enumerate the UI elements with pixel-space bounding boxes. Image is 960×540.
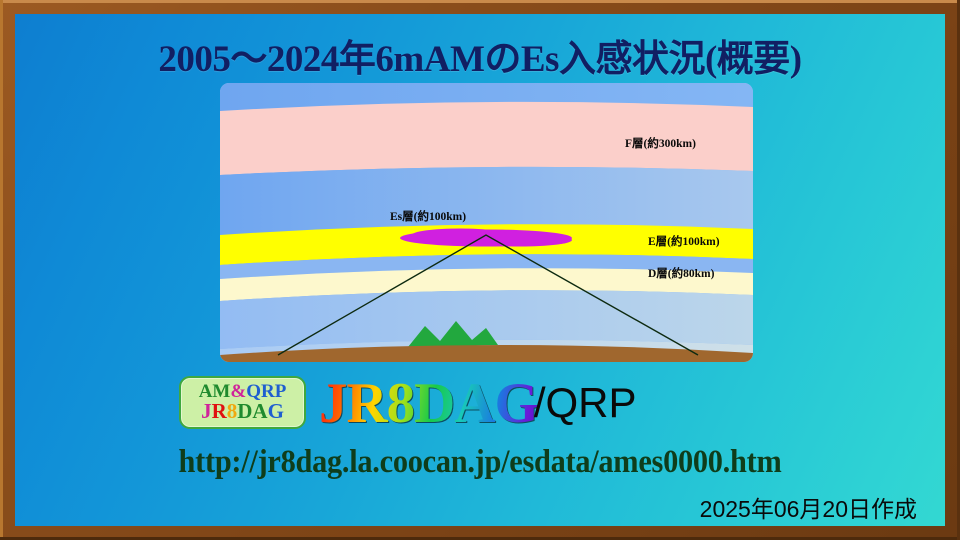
callsign-main: JR8DAG [319,372,538,435]
badge-char: G [268,401,284,422]
label-d-layer: D層(約80km) [648,265,714,281]
callsign-wordmark: JR8DAG/QRP [319,371,641,436]
badge-char: D [237,401,252,422]
badge-char: 8 [227,401,238,422]
label-es-layer: Es層(約100km) [390,208,466,224]
slide-frame: 2005〜2024年6mAMのEs入感状況(概要) [0,0,960,540]
source-url[interactable]: http://jr8dag.la.coocan.jp/esdata/ames00… [52,444,908,481]
callsign-suffix: /QRP [534,379,637,426]
badge-char: J [201,401,212,422]
label-e-layer: E層(約100km) [648,233,720,249]
slide-canvas: 2005〜2024年6mAMのEs入感状況(概要) [15,14,945,526]
frame-bevel-left [0,0,3,540]
label-f-layer: F層(約300km) [625,135,696,151]
badge-line-jr8dag: JR8DAG [201,401,284,422]
am-qrp-jr8dag-logo-badge: AM&QRP JR8DAG [179,376,306,429]
creation-date: 2025年06月20日作成 [700,490,917,524]
frame-bevel-top [0,0,960,3]
page-title: 2005〜2024年6mAMのEs入感状況(概要) [15,28,945,82]
ionosphere-propagation-diagram: F層(約300km) Es層(約100km) E層(約100km) D層(約80… [220,83,753,362]
badge-char: R [212,401,227,422]
badge-char: A [252,401,267,422]
